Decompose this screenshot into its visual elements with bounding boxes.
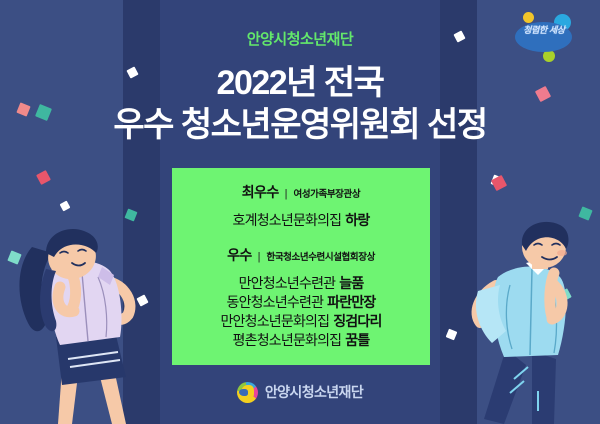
award-entry-row: 평촌청소년문화의집꿈틀 bbox=[172, 331, 430, 350]
award-entry-name: 늘품 bbox=[339, 275, 363, 291]
male-student-svg bbox=[470, 219, 600, 424]
award-entry-org: 만안청소년수련관 bbox=[239, 275, 336, 291]
award-entry-row: 호계청소년문화의집하랑 bbox=[172, 211, 430, 230]
award-entry-name: 징검다리 bbox=[333, 313, 381, 329]
circle-emblem-icon bbox=[237, 382, 258, 403]
award-entry-name: 파란만장 bbox=[327, 294, 375, 310]
award-entry-name: 꿈틀 bbox=[345, 332, 369, 348]
award-card: 최우수 | 여성가족부장관상 호계청소년문화의집하랑 우수 | 한국청소년수련시… bbox=[172, 168, 430, 365]
award-entry-row: 만안청소년문화의집징검다리 bbox=[172, 312, 430, 331]
award-rank-label: 최우수 bbox=[242, 182, 279, 202]
title-line-2: 우수 청소년운영위원회 선정 bbox=[0, 104, 600, 146]
award-entry-org: 동안청소년수련관 bbox=[227, 294, 324, 310]
award-separator: | bbox=[285, 188, 288, 200]
award-entry-row: 동안청소년수련관파란만장 bbox=[172, 293, 430, 312]
award-entry-name: 하랑 bbox=[345, 212, 369, 228]
illustration-male-student bbox=[470, 219, 600, 424]
award-rank-label: 우수 bbox=[227, 245, 252, 265]
award-group-header: 우수 | 한국청소년수련시설협회장상 bbox=[172, 245, 430, 265]
page-title: 2022년 전국 우수 청소년운영위원회 선정 bbox=[0, 62, 600, 146]
badge-dot-yellow bbox=[523, 12, 534, 23]
poster-canvas: 청렴한 세상 안양시청소년재단 2022년 전국 우수 청소년운영위원회 선정 … bbox=[0, 0, 600, 424]
award-giver-label: 여성가족부장관상 bbox=[293, 186, 360, 200]
organization-line: 안양시청소년재단 bbox=[0, 28, 600, 49]
award-entry-row: 만안청소년수련관늘품 bbox=[172, 274, 430, 293]
award-entry-org: 만안청소년문화의집 bbox=[220, 313, 329, 329]
illustration-female-student bbox=[2, 219, 142, 424]
footer-logo-label: 안양시청소년재단 bbox=[265, 382, 363, 402]
award-entry-org: 호계청소년문화의집 bbox=[233, 212, 342, 228]
title-line-1: 2022년 전국 bbox=[0, 62, 600, 104]
female-student-svg bbox=[2, 219, 142, 424]
award-entry-org: 평촌청소년문화의집 bbox=[233, 332, 342, 348]
award-giver-label: 한국청소년수련시설협회장상 bbox=[267, 249, 375, 263]
award-group-grand: 최우수 | 여성가족부장관상 호계청소년문화의집하랑 bbox=[172, 182, 430, 230]
award-group-header: 최우수 | 여성가족부장관상 bbox=[172, 182, 430, 202]
award-separator: | bbox=[258, 251, 261, 263]
award-group-excellent: 우수 | 한국청소년수련시설협회장상 만안청소년수련관늘품 동안청소년수련관파란… bbox=[172, 245, 430, 350]
